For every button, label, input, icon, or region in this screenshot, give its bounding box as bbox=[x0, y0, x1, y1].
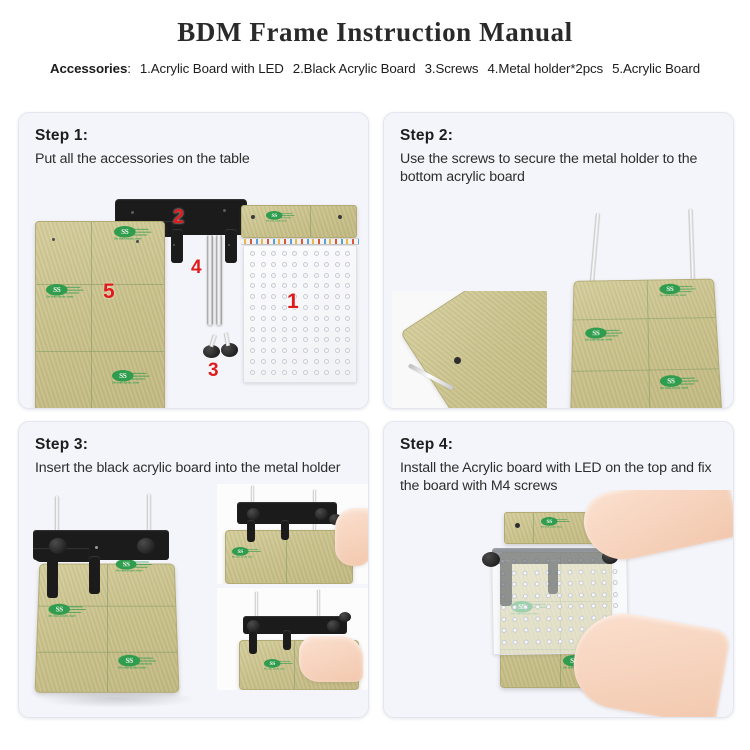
ss-logo-caption: Shi shan acrylic sheet bbox=[541, 526, 562, 528]
ss-logo-caption: Shi shan acrylic sheet bbox=[118, 666, 146, 669]
callout-3: 3 bbox=[208, 361, 219, 380]
accessories-colon: : bbox=[127, 61, 131, 76]
ss-logo-caption: Shi shan acrylic sheet bbox=[660, 387, 688, 390]
ss-logo-caption: Shi shan acrylic sheet bbox=[114, 238, 141, 241]
accessories-label: Accessories bbox=[50, 61, 127, 76]
hand bbox=[335, 508, 369, 566]
step-4-header: Step 4: Install the Acrylic board with L… bbox=[384, 422, 733, 495]
led-board-top-strip: SS Shi shan acrylic sheet bbox=[241, 205, 357, 238]
step-1-label: Step 1: bbox=[35, 127, 368, 145]
clamp-knob bbox=[327, 620, 340, 632]
ss-logo-caption: Shi shan acrylic sheet bbox=[660, 294, 687, 297]
clamp-knob bbox=[482, 552, 500, 567]
step-1-header: Step 1: Put all the accessories on the t… bbox=[19, 113, 368, 168]
ss-logo: SS Shi shan acrylic sheet bbox=[118, 655, 156, 671]
step-panel-3: Step 3: Insert the black acrylic board i… bbox=[18, 421, 369, 718]
ss-logo: SS Shi shan acrylic sheet bbox=[541, 517, 570, 529]
step-3-photo-main: SS Shi shan acrylic sheet SS Shi shan ac… bbox=[19, 484, 214, 717]
step-1-description: Put all the accessories on the table bbox=[35, 150, 368, 168]
clamp-knob bbox=[247, 508, 260, 520]
step-1-photo: 2 SS Shi shan acrylic sheet SS bbox=[19, 183, 368, 408]
hand bbox=[299, 636, 363, 682]
accessory-item-1: 1.Acrylic Board with LED bbox=[140, 61, 284, 76]
led-strip bbox=[241, 238, 359, 245]
step-3-inset-photo-2: SS Shi shan acrylic sheet bbox=[217, 588, 369, 690]
acrylic-board-with-led bbox=[243, 245, 357, 383]
step-2-inset-photo bbox=[392, 291, 547, 408]
step-panel-2: Step 2: Use the screws to secure the met… bbox=[383, 112, 734, 409]
ss-logo: SS Shi shan acrylic sheet bbox=[114, 226, 151, 242]
clamp-knob bbox=[315, 508, 328, 520]
ss-logo: SS Shi shan acrylic sheet bbox=[659, 283, 696, 298]
bottom-acrylic-board: SS Shi shan acrylic sheet SS Shi shan ac… bbox=[570, 279, 722, 408]
ss-logo: SS Shi shan acrylic sheet bbox=[266, 211, 295, 223]
step-3-description: Insert the black acrylic board into the … bbox=[35, 459, 368, 477]
black-acrylic-board bbox=[492, 548, 612, 606]
step-panel-1: Step 1: Put all the accessories on the t… bbox=[18, 112, 369, 409]
ss-logo-caption: Shi shan acrylic sheet bbox=[46, 296, 73, 299]
acrylic-board-5: SS Shi shan acrylic sheet SS Shi shan ac… bbox=[35, 221, 165, 408]
accessories-line: Accessories:1.Acrylic Board with LED2.Bl… bbox=[0, 61, 750, 76]
ss-logo-caption: Shi shan acrylic sheet bbox=[585, 338, 612, 341]
tilted-acrylic-board bbox=[400, 291, 547, 408]
metal-rod bbox=[207, 235, 213, 325]
callout-1: 1 bbox=[287, 291, 299, 312]
page-title: BDM Frame Instruction Manual bbox=[0, 0, 750, 48]
accessory-item-4: 4.Metal holder*2pcs bbox=[487, 61, 603, 76]
steps-grid: Step 1: Put all the accessories on the t… bbox=[18, 112, 734, 718]
clamp-knob bbox=[247, 620, 260, 632]
ss-logo: SS Shi shan acrylic sheet bbox=[660, 375, 699, 392]
callout-2: 2 bbox=[173, 207, 184, 227]
ss-logo-caption: Shi shan acrylic sheet bbox=[48, 615, 75, 618]
ss-logo: SS Shi shan acrylic sheet bbox=[264, 659, 293, 671]
accessory-item-3: 3.Screws bbox=[425, 61, 479, 76]
black-acrylic-board bbox=[33, 530, 169, 604]
ss-logo-caption: Shi shan acrylic sheet bbox=[112, 382, 139, 385]
step-2-photo: SS Shi shan acrylic sheet SS Shi shan ac… bbox=[384, 175, 733, 408]
step-4-label: Step 4: bbox=[400, 436, 733, 454]
ss-logo: SS Shi shan acrylic sheet bbox=[232, 547, 261, 559]
screw-knob bbox=[339, 612, 351, 622]
ss-logo-caption: Shi shan acrylic sheet bbox=[266, 220, 287, 222]
screw-shaft bbox=[224, 333, 230, 346]
step-2-label: Step 2: bbox=[400, 127, 733, 145]
clamp-knob bbox=[137, 538, 155, 554]
accessory-item-5: 5.Acrylic Board bbox=[612, 61, 700, 76]
callout-5: 5 bbox=[103, 281, 115, 302]
ss-logo: SS Shi shan acrylic sheet bbox=[112, 370, 149, 386]
ss-logo-caption: Shi shan acrylic sheet bbox=[264, 668, 285, 670]
step-4-photo: SS Shi shan acrylic sheet SS Shi shan ac… bbox=[384, 490, 733, 717]
ss-logo: SS Shi shan acrylic sheet bbox=[46, 284, 83, 300]
step-3-header: Step 3: Insert the black acrylic board i… bbox=[19, 422, 368, 477]
ss-logo: SS Shi shan acrylic sheet bbox=[585, 327, 622, 343]
step-3-inset-photo-1: SS Shi shan acrylic sheet bbox=[217, 484, 369, 584]
ss-logo: SS Shi shan acrylic sheet bbox=[48, 604, 85, 619]
ss-logo-caption: Shi shan acrylic sheet bbox=[232, 556, 253, 558]
black-acrylic-board bbox=[237, 502, 337, 542]
step-3-label: Step 3: bbox=[35, 436, 368, 454]
callout-4: 4 bbox=[191, 258, 202, 277]
step-panel-4: Step 4: Install the Acrylic board with L… bbox=[383, 421, 734, 718]
perforation-grid bbox=[244, 246, 356, 382]
accessory-item-2: 2.Black Acrylic Board bbox=[293, 61, 416, 76]
clamp-knob bbox=[49, 538, 67, 554]
metal-rod bbox=[216, 235, 222, 325]
